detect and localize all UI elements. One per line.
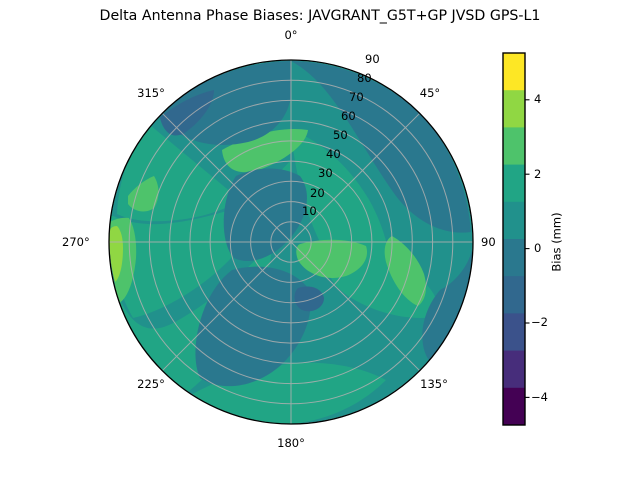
colorbar-tick-4: 4 <box>534 92 541 106</box>
polar-grid <box>109 60 473 424</box>
colorbar-band <box>503 202 525 240</box>
colorbar-tick-minus2: −2 <box>531 315 548 329</box>
colorbar-bands <box>503 53 525 426</box>
colorbar-tick-minus4: −4 <box>531 390 548 404</box>
colorbar-tick-2: 2 <box>534 167 541 181</box>
r-tick-70: 70 <box>349 90 364 104</box>
theta-tick-0: 0° <box>271 28 311 42</box>
theta-tick-315: 315° <box>126 86 176 100</box>
theta-tick-180: 180° <box>266 436 316 450</box>
colorbar-band <box>503 90 525 128</box>
r-tick-40: 40 <box>326 147 341 161</box>
colorbar-band <box>503 313 525 351</box>
colorbar[interactable] <box>495 40 635 480</box>
r-tick-60: 60 <box>341 109 356 123</box>
theta-tick-225: 225° <box>126 377 176 391</box>
theta-tick-135: 135° <box>409 377 459 391</box>
r-tick-30: 30 <box>318 166 333 180</box>
colorbar-band <box>503 388 525 426</box>
colorbar-band <box>503 53 525 91</box>
theta-tick-270: 270° <box>62 235 90 249</box>
colorbar-band <box>503 127 525 165</box>
figure-canvas: Delta Antenna Phase Biases: JAVGRANT_G5T… <box>0 0 640 480</box>
r-tick-90: 90 <box>365 52 380 66</box>
colorbar-band <box>503 351 525 389</box>
colorbar-band <box>503 239 525 277</box>
colorbar-band <box>503 165 525 203</box>
theta-tick-90: 90 <box>481 235 496 249</box>
colorbar-title: Bias (mm) <box>550 212 564 271</box>
r-tick-80: 80 <box>357 71 372 85</box>
r-tick-20: 20 <box>310 186 325 200</box>
theta-tick-45: 45° <box>409 86 451 100</box>
colorbar-band <box>503 276 525 314</box>
r-tick-50: 50 <box>333 128 348 142</box>
colorbar-tick-0: 0 <box>534 241 541 255</box>
r-tick-10: 10 <box>302 204 317 218</box>
